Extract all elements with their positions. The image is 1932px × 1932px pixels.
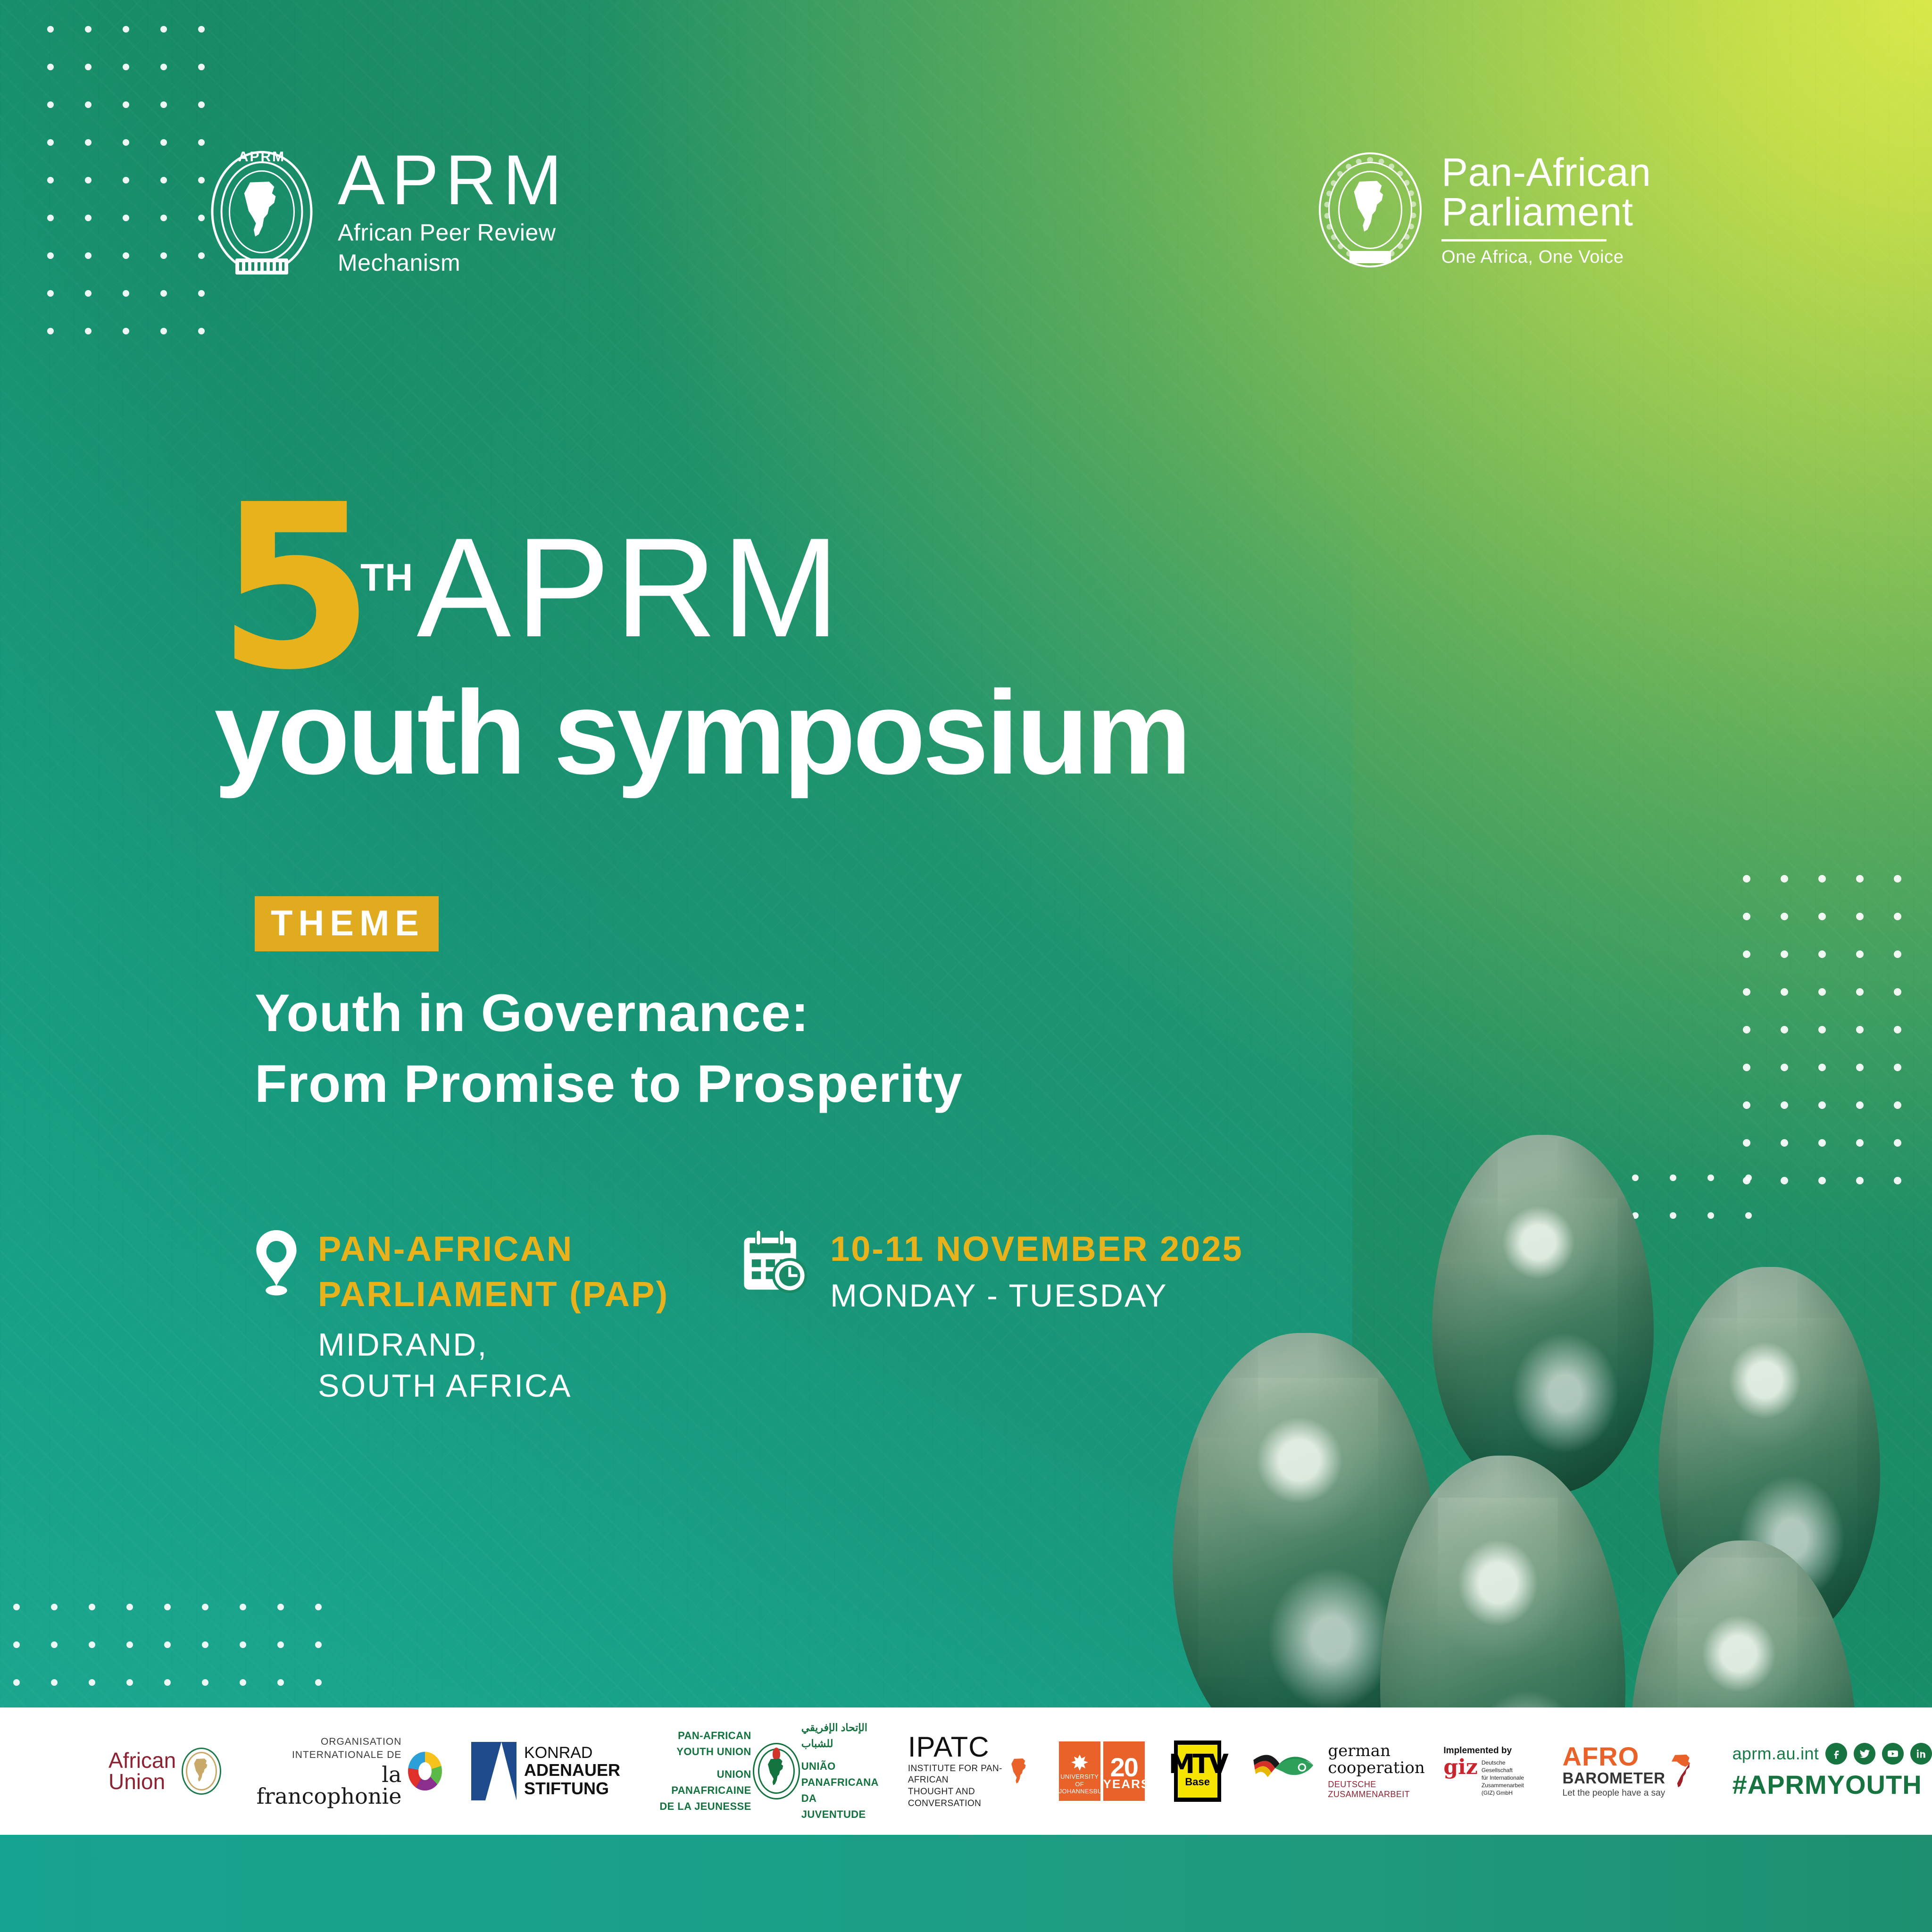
payu-pt-line2: DA JUVENTUDE — [801, 1790, 879, 1823]
pan-african-parliament-logo: Pan-African Parliament One Africa, One V… — [1316, 151, 1651, 269]
africa-map-icon — [239, 180, 284, 239]
afro-line2: BAROMETER — [1563, 1770, 1666, 1787]
venue-block: PAN-AFRICAN PARLIAMENT (PAP) MIDRAND, SO… — [255, 1226, 669, 1407]
event-poster: APRM APRM African Peer Review Mechanism — [0, 0, 1932, 1932]
payu-fr-line2: DE LA JEUNESSE — [650, 1799, 751, 1815]
au-seal-icon — [181, 1747, 222, 1796]
partner-logo-pan-african-youth-union: PAN-AFRICAN YOUTH UNION UNION PANAFRICAI… — [650, 1738, 879, 1804]
aprm-logo: APRM APRM African Peer Review Mechanism — [208, 146, 568, 278]
event-meta: PAN-AFRICAN PARLIAMENT (PAP) MIDRAND, SO… — [255, 1226, 1243, 1407]
edition-number: 5 — [217, 500, 366, 676]
partner-logo-konrad-adenauer-stiftung: KONRAD ADENAUER STIFTUNG — [471, 1738, 620, 1804]
partner-logo-la-francophonie: ORGANISATION INTERNATIONALE DE la franco… — [251, 1738, 442, 1804]
oif-sub-line1: ORGANISATION — [251, 1735, 401, 1749]
aprm-fullname-line1: African Peer Review — [338, 217, 568, 248]
pap-tagline: One Africa, One Voice — [1441, 247, 1651, 267]
africa-map-icon — [1350, 179, 1391, 234]
german-coop-sub: DEUTSCHE ZUSAMMENARBEIT — [1328, 1780, 1433, 1799]
bird-crest-icon — [1069, 1754, 1090, 1773]
afro-line1: AFRO — [1563, 1743, 1666, 1770]
kas-mark-icon — [471, 1742, 516, 1800]
partner-logo-mtv-base: MTV Base — [1174, 1740, 1221, 1802]
aprm-seal-icon: APRM — [208, 148, 316, 275]
giz-line3: Zusammenarbeit (GIZ) GmbH — [1482, 1782, 1533, 1797]
headline-org: APRM — [416, 526, 844, 648]
payu-en: PAN-AFRICAN YOUTH UNION — [650, 1728, 751, 1760]
ipatc-sub-line1: INSTITUTE FOR PAN-AFRICAN — [908, 1763, 1006, 1786]
mtv-mark: MTV — [1169, 1754, 1226, 1775]
venue-name-line2: PARLIAMENT (PAP) — [318, 1272, 669, 1317]
afro-tagline: Let the people have a say — [1563, 1788, 1666, 1799]
kas-line2: ADENAUER — [524, 1761, 620, 1780]
africa-map-icon — [766, 1758, 787, 1786]
pap-seal-icon — [1316, 151, 1424, 269]
payu-pt-line1: UNIÃO PANAFRICANA — [801, 1758, 879, 1790]
venue-city: MIDRAND, — [318, 1324, 669, 1366]
ipatc-sub-line2: THOUGHT AND CONVERSATION — [908, 1786, 1006, 1809]
kas-line1: KONRAD — [524, 1744, 620, 1762]
aprm-wordmark: APRM African Peer Review Mechanism — [338, 146, 568, 278]
partner-logo-german-cooperation: german cooperation DEUTSCHE ZUSAMMENARBE… — [1250, 1738, 1533, 1804]
youtube-icon[interactable] — [1882, 1743, 1904, 1765]
giz-line1: Deutsche Gesellschaft — [1482, 1759, 1533, 1774]
giz-mark: giz — [1443, 1759, 1477, 1775]
au-name-line1: African — [108, 1750, 176, 1771]
headline-event: youth symposium — [214, 674, 1189, 792]
kas-line3: STIFTUNG — [524, 1780, 620, 1798]
giz-line2: für Internationale — [1482, 1774, 1533, 1782]
edition-suffix: TH — [360, 556, 414, 600]
africa-map-icon — [192, 1758, 211, 1782]
pap-name-line1: Pan-African — [1441, 152, 1651, 192]
header-logo-row: APRM APRM African Peer Review Mechanism — [0, 142, 1932, 330]
africa-map-icon — [1009, 1749, 1029, 1793]
contact-block: aprm.au.int #APRMYOUTH — [1725, 1743, 1932, 1800]
theme-block: THEME Youth in Governance: From Promise … — [255, 896, 963, 1119]
bottom-accent-band — [0, 1835, 1932, 1932]
aprm-fullname-line2: Mechanism — [338, 248, 568, 278]
pap-divider — [1441, 239, 1607, 241]
pap-wordmark: Pan-African Parliament One Africa, One V… — [1441, 152, 1651, 267]
partner-logo-afrobarometer: AFRO BAROMETER Let the people have a say — [1563, 1738, 1696, 1804]
partner-logo-ipatc: IPATC INSTITUTE FOR PAN-AFRICAN THOUGHT … — [908, 1738, 1030, 1804]
german-cooperation-wave-icon — [1250, 1743, 1318, 1799]
uj-caption-line1: UNIVERSITY — [1059, 1773, 1100, 1781]
aprm-acronym: APRM — [338, 146, 568, 214]
francophonie-ring-icon — [408, 1752, 442, 1790]
uj-anniversary-box: 20 YEARS — [1103, 1741, 1145, 1801]
venue-name-line1: PAN-AFRICAN — [318, 1226, 669, 1272]
implemented-by-label: Implemented by — [1443, 1746, 1533, 1756]
german-coop-line2: cooperation — [1328, 1760, 1433, 1777]
payu-seal-icon — [760, 1742, 793, 1800]
partner-logo-african-union: African Union — [108, 1738, 222, 1804]
calendar-clock-icon — [740, 1229, 810, 1295]
facebook-icon[interactable] — [1825, 1743, 1847, 1765]
twitter-icon[interactable] — [1854, 1743, 1875, 1765]
pap-name-line2: Parliament — [1441, 192, 1651, 232]
person-photo — [1432, 1135, 1654, 1493]
venue-country: SOUTH AFRICA — [318, 1366, 669, 1407]
mtv-label: Base — [1185, 1776, 1210, 1788]
page-title: 5 TH APRM youth symposium — [217, 500, 1189, 792]
theme-line-2: From Promise to Prosperity — [255, 1049, 963, 1119]
ipatc-acronym: IPATC — [908, 1733, 1006, 1761]
german-coop-line1: german — [1328, 1743, 1433, 1760]
au-name-line2: Union — [108, 1771, 176, 1792]
event-hashtag: #APRMYOUTH — [1732, 1769, 1932, 1800]
oif-name: la francophonie — [251, 1764, 401, 1807]
theme-badge: THEME — [255, 896, 439, 951]
uj-anniversary-label: YEARS — [1103, 1777, 1145, 1791]
partner-logo-university-of-johannesburg: UNIVERSITY OF JOHANNESBURG 20 YEARS — [1059, 1738, 1145, 1804]
theme-line-1: Youth in Governance: — [255, 978, 963, 1049]
linkedin-icon[interactable] — [1910, 1743, 1932, 1765]
website-link[interactable]: aprm.au.int — [1732, 1744, 1819, 1764]
partner-footer: African Union ORGANISATION INTERNATIONAL… — [0, 1707, 1932, 1835]
africa-map-icon — [1668, 1754, 1696, 1789]
uj-crest-box: UNIVERSITY OF JOHANNESBURG — [1059, 1741, 1100, 1801]
location-pin-icon — [255, 1230, 298, 1296]
oif-sub-line2: INTERNATIONALE DE — [251, 1749, 401, 1762]
payu-fr-line1: UNION PANAFRICAINE — [650, 1766, 751, 1799]
uj-caption-line2: OF JOHANNESBURG — [1059, 1781, 1100, 1795]
payu-ar: الإتحاد الإفريقي للشباب — [801, 1720, 879, 1752]
